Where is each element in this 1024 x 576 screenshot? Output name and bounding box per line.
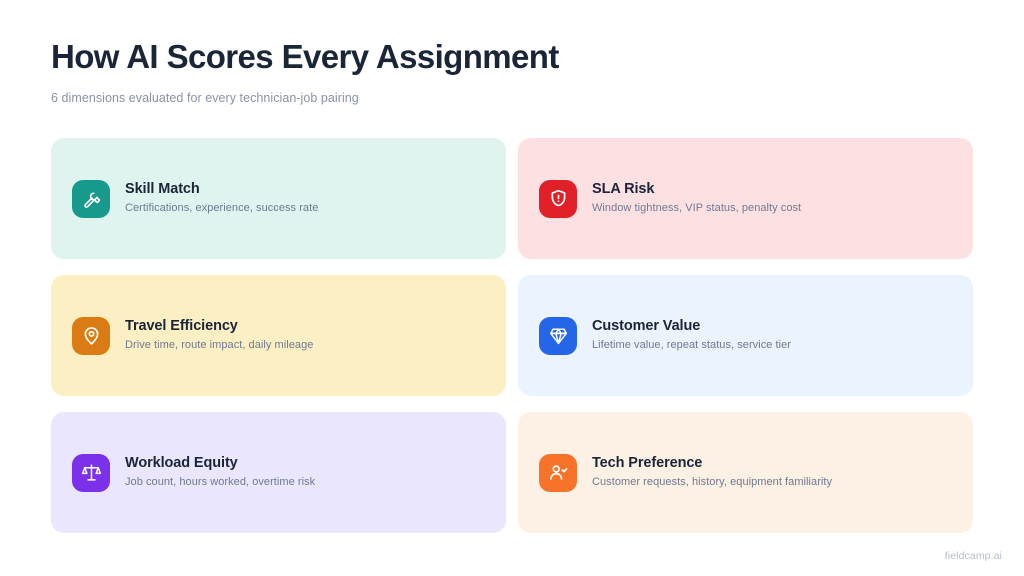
card-description: Drive time, route impact, daily mileage xyxy=(125,339,313,353)
dimension-card[interactable]: Tech Preference Customer requests, histo… xyxy=(518,412,973,533)
card-description: Certifications, experience, success rate xyxy=(125,202,318,216)
card-description: Customer requests, history, equipment fa… xyxy=(592,476,832,490)
card-text-block: Customer Value Lifetime value, repeat st… xyxy=(592,318,791,353)
card-text-block: Travel Efficiency Drive time, route impa… xyxy=(125,318,313,353)
page-title: How AI Scores Every Assignment xyxy=(51,38,559,76)
icon-container xyxy=(539,317,577,355)
user-check-icon xyxy=(548,462,569,483)
card-description: Window tightness, VIP status, penalty co… xyxy=(592,202,801,216)
map-pin-icon xyxy=(81,325,102,346)
icon-container xyxy=(72,180,110,218)
dimension-card[interactable]: Workload Equity Job count, hours worked,… xyxy=(51,412,506,533)
dimension-card[interactable]: SLA Risk Window tightness, VIP status, p… xyxy=(518,138,973,259)
card-title: SLA Risk xyxy=(592,181,801,198)
card-title: Workload Equity xyxy=(125,455,315,472)
scales-icon xyxy=(81,462,102,483)
card-description: Lifetime value, repeat status, service t… xyxy=(592,339,791,353)
shield-alert-icon xyxy=(548,188,569,209)
wrench-icon xyxy=(81,188,102,209)
dimension-card[interactable]: Skill Match Certifications, experience, … xyxy=(51,138,506,259)
card-text-block: SLA Risk Window tightness, VIP status, p… xyxy=(592,181,801,216)
icon-container xyxy=(539,180,577,218)
icon-container xyxy=(72,454,110,492)
dimension-card-grid: Skill Match Certifications, experience, … xyxy=(51,138,973,533)
brand-watermark: fieldcamp.ai xyxy=(945,550,1002,562)
dimension-card[interactable]: Customer Value Lifetime value, repeat st… xyxy=(518,275,973,396)
card-title: Tech Preference xyxy=(592,455,832,472)
card-text-block: Skill Match Certifications, experience, … xyxy=(125,181,318,216)
header: How AI Scores Every Assignment 6 dimensi… xyxy=(51,38,559,105)
card-title: Skill Match xyxy=(125,181,318,198)
page-subtitle: 6 dimensions evaluated for every technic… xyxy=(51,91,559,105)
card-text-block: Tech Preference Customer requests, histo… xyxy=(592,455,832,490)
gem-icon xyxy=(548,325,569,346)
icon-container xyxy=(72,317,110,355)
icon-container xyxy=(539,454,577,492)
slide-canvas: How AI Scores Every Assignment 6 dimensi… xyxy=(0,0,1024,576)
card-text-block: Workload Equity Job count, hours worked,… xyxy=(125,455,315,490)
card-title: Travel Efficiency xyxy=(125,318,313,335)
dimension-card[interactable]: Travel Efficiency Drive time, route impa… xyxy=(51,275,506,396)
card-description: Job count, hours worked, overtime risk xyxy=(125,476,315,490)
card-title: Customer Value xyxy=(592,318,791,335)
